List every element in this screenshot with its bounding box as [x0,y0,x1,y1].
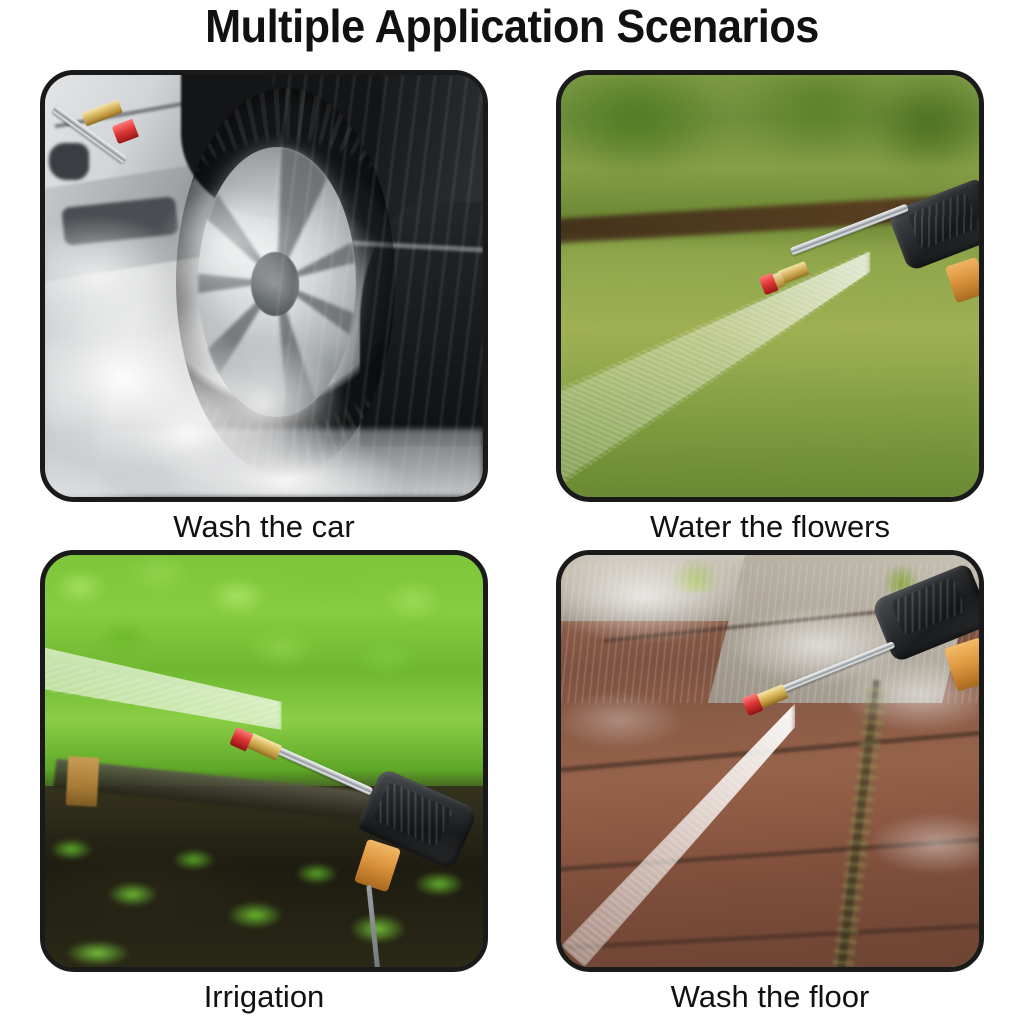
infographic-page: Multiple Application Scenarios [0,0,1024,1024]
scenario-card-water-the-flowers[interactable]: Water the flowers [556,70,984,502]
scenario-photo-wash-the-car [40,70,488,502]
scenario-grid: Wash the car Water the flowers [0,62,1024,1024]
car-mirror [49,143,88,181]
scenario-caption-water-the-flowers: Water the flowers [556,504,984,550]
scenario-caption-wash-the-floor: Wash the floor [556,974,984,1020]
scenario-card-wash-the-car[interactable]: Wash the car [40,70,488,502]
scenario-card-irrigation[interactable]: Irrigation [40,550,488,972]
scenario-photo-wash-the-floor [556,550,984,972]
wooden-post [66,756,99,807]
scenario-caption-irrigation: Irrigation [40,974,488,1020]
scenario-photo-water-the-flowers [556,70,984,502]
page-title: Multiple Application Scenarios [31,0,994,54]
scenario-caption-wash-the-car: Wash the car [40,504,488,550]
scenario-card-wash-the-floor[interactable]: Wash the floor [556,550,984,972]
scenario-photo-irrigation [40,550,488,972]
wet-ground [45,429,483,497]
